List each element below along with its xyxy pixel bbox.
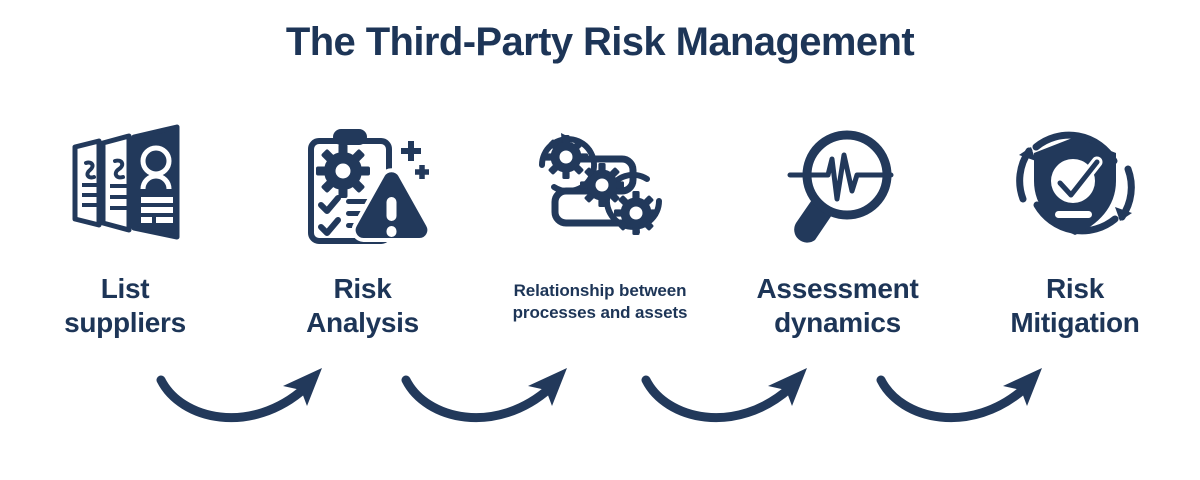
arrow-step1-to-step2	[155, 358, 355, 438]
step-label-line2: Analysis	[306, 306, 419, 340]
steps-row: List suppliers	[0, 108, 1200, 348]
step-process-asset-relationship: Relationship between processes and asset…	[489, 108, 711, 324]
step-risk-mitigation: Risk Mitigation	[964, 108, 1186, 340]
step-label: Relationship between processes and asset…	[513, 280, 688, 324]
arrow-step2-to-step3	[400, 358, 600, 438]
magnifier-pulse-icon	[763, 108, 913, 258]
page-title: The Third-Party Risk Management	[0, 18, 1200, 66]
connector-arrows	[0, 358, 1200, 448]
step-label-line1: Relationship between	[513, 280, 688, 302]
step-label-line2: suppliers	[64, 306, 186, 340]
supplier-cards-icon	[50, 108, 200, 258]
step-label: List suppliers	[64, 272, 186, 340]
step-label-line1: List	[64, 272, 186, 306]
arrow-step4-to-step5	[875, 358, 1075, 438]
arrow-step3-to-step4	[640, 358, 840, 438]
step-assessment-dynamics: Assessment dynamics	[727, 108, 949, 340]
step-label-line2: processes and assets	[513, 302, 688, 324]
step-label-line2: Mitigation	[1010, 306, 1139, 340]
step-label: Risk Mitigation	[1010, 272, 1139, 340]
clipboard-warning-icon	[288, 108, 438, 258]
step-risk-analysis: Risk Analysis	[252, 108, 474, 340]
step-list-suppliers: List suppliers	[14, 108, 236, 340]
shield-check-refresh-icon	[1000, 108, 1150, 258]
step-label: Risk Analysis	[306, 272, 419, 340]
process-gears-flow-icon	[525, 108, 675, 258]
step-label-line1: Risk	[1010, 272, 1139, 306]
step-label-line2: dynamics	[757, 306, 919, 340]
step-label-line1: Risk	[306, 272, 419, 306]
step-label-line1: Assessment	[757, 272, 919, 306]
step-label: Assessment dynamics	[757, 272, 919, 340]
